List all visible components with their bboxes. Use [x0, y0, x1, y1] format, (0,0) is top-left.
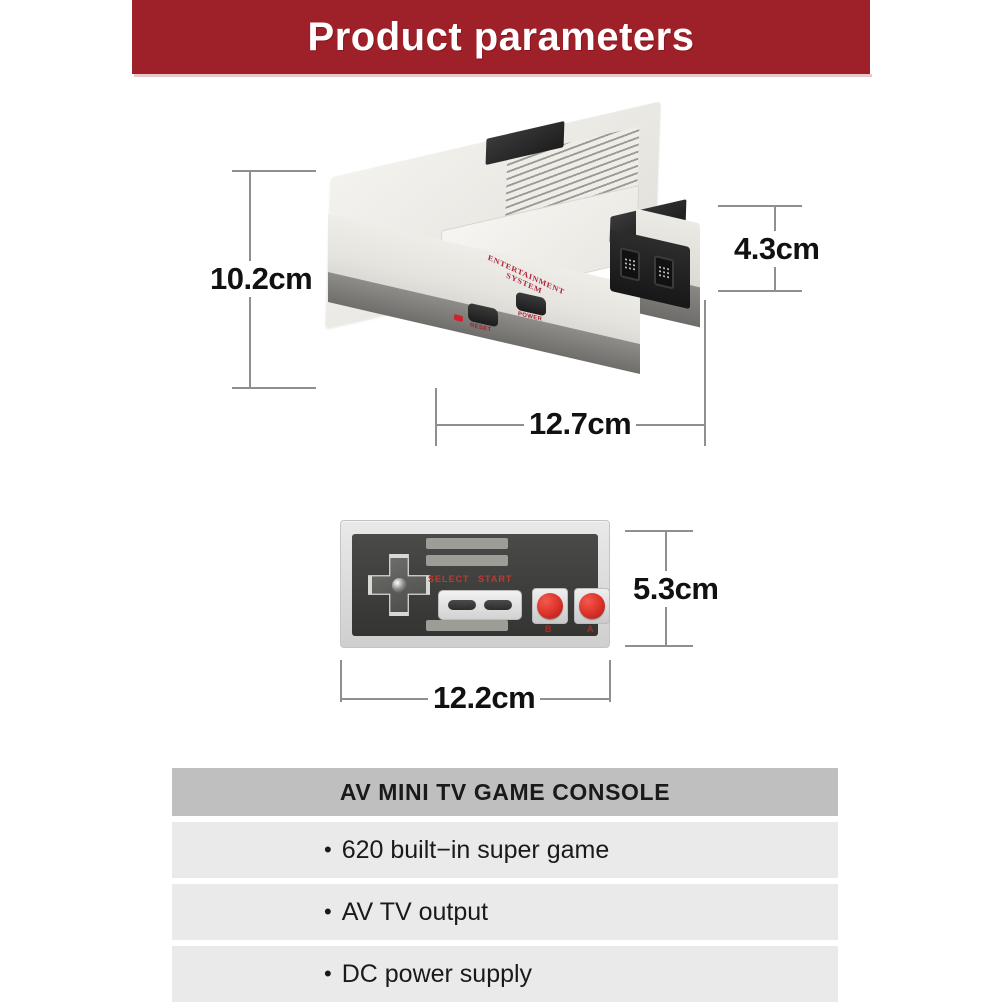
dim-tick-depth-top	[718, 205, 802, 207]
dim-tick-ctrl-width-right	[609, 660, 611, 702]
spec-table-row: • DC power supply	[172, 946, 838, 1002]
dpad-center-hub	[392, 578, 407, 593]
button-a	[579, 593, 605, 619]
controller-port-1	[620, 247, 640, 282]
dim-tick-depth-bottom	[718, 290, 802, 292]
button-b	[537, 593, 563, 619]
dim-tick-height-bottom	[232, 387, 316, 389]
spec-row-text: DC power supply	[342, 960, 532, 989]
face-stripe-2	[426, 555, 508, 566]
console-illustration: ENTERTAINMENT SYSTEM RESET POWER	[310, 130, 730, 400]
controller-port-2	[654, 255, 674, 290]
select-start-plate	[438, 590, 522, 620]
dim-label-controller-height: 5.3cm	[628, 571, 723, 607]
button-a-label: A	[587, 624, 594, 634]
page-title-banner: Product parameters	[132, 0, 870, 74]
bullet-icon: •	[324, 901, 332, 923]
dim-label-console-width: 12.7cm	[524, 406, 636, 442]
controller-illustration: SELECT START B A	[340, 520, 610, 648]
spec-row-text: 620 built−in super game	[342, 836, 610, 865]
spec-table: AV MINI TV GAME CONSOLE • 620 built−in s…	[172, 768, 838, 1002]
spec-row-text: AV TV output	[342, 898, 488, 927]
spec-table-row: • 620 built−in super game	[172, 822, 838, 878]
select-label: SELECT	[428, 574, 470, 584]
start-button	[484, 600, 512, 610]
bullet-icon: •	[324, 963, 332, 985]
dim-tick-height-top	[232, 170, 316, 172]
banner-shadow	[134, 74, 872, 77]
dim-label-console-depth: 4.3cm	[729, 231, 824, 267]
face-stripe-3	[426, 620, 508, 631]
product-parameters-page: Product parameters ENTERTAINMENT SYSTEM	[0, 0, 1002, 1002]
dim-tick-ctrl-width-left	[340, 660, 342, 702]
button-b-label: B	[545, 624, 552, 634]
dim-tick-width-left	[435, 388, 437, 446]
spec-table-header: AV MINI TV GAME CONSOLE	[172, 768, 838, 816]
dim-label-controller-width: 12.2cm	[428, 680, 540, 716]
page-title: Product parameters	[308, 15, 695, 60]
button-a-bezel	[574, 588, 610, 624]
dpad	[368, 554, 430, 616]
dim-label-console-height: 10.2cm	[205, 261, 317, 297]
dim-tick-ctrl-height-top	[625, 530, 693, 532]
select-button	[448, 600, 476, 610]
controller-face-plate: SELECT START B A	[352, 534, 598, 636]
face-stripe-1	[426, 538, 508, 549]
bullet-icon: •	[324, 839, 332, 861]
button-b-bezel	[532, 588, 568, 624]
spec-table-row: • AV TV output	[172, 884, 838, 940]
dim-tick-ctrl-height-bottom	[625, 645, 693, 647]
start-label: START	[478, 574, 512, 584]
